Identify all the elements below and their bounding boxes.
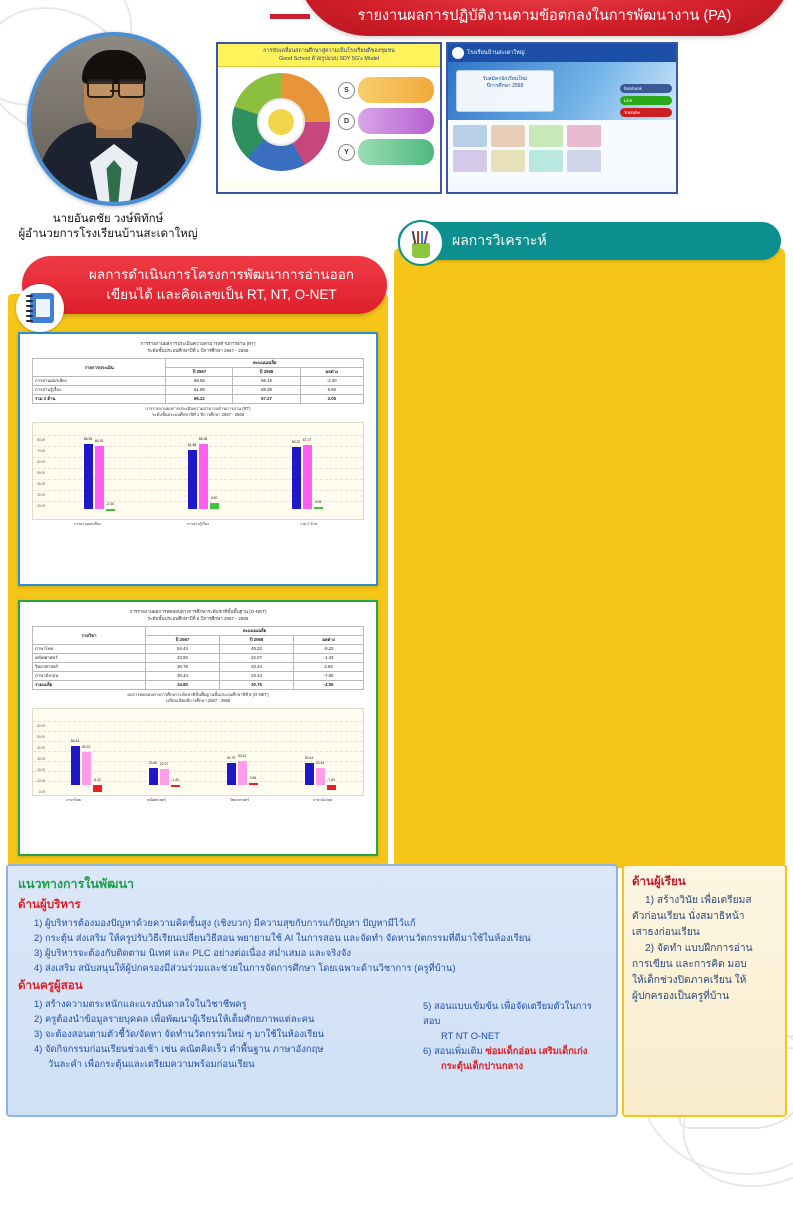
book-glyph bbox=[26, 293, 54, 323]
sdy-model-title: การขับเคลื่อนสถานศึกษาสู่ความเป็นโรงเรีย… bbox=[218, 44, 440, 67]
page-title: รายงานผลการปฏิบัติงานตามข้อตกลงในการพัฒน… bbox=[358, 4, 732, 27]
development-admin-item: 3) ผู้บริหารจะต้องกับติดตาม นิเทศ และ PL… bbox=[18, 945, 606, 960]
onet-x-axis-labels: ภาษาไทยคณิตศาสตร์วิทยาศาสตร์ภาษาอังกฤษ bbox=[32, 796, 364, 803]
development-teacher-title: ด้านครูผู้สอน bbox=[18, 977, 606, 995]
sdy-letter-d: D bbox=[338, 113, 355, 130]
project-result-text: ผลการดำเนินการโครงการพัฒนาการอ่านออก เขี… bbox=[22, 265, 387, 305]
image-card-sdy-model: การขับเคลื่อนสถานศึกษาสู่ความเป็นโรงเรีย… bbox=[216, 42, 442, 194]
rt-cell-diff: -2.40 bbox=[300, 377, 363, 386]
onet-y-tick: 20.00 bbox=[33, 765, 46, 776]
rt-plot-title: การรายงานผลการประเมินความสามารถด้านการอ่… bbox=[24, 404, 372, 418]
bar-ปี-2567: 61.88 bbox=[188, 450, 197, 509]
bar-value-label: 54.44 bbox=[71, 739, 80, 743]
chart-card-onet: การรายงานผลการทดสอบทางการศึกษาระดับชาติข… bbox=[18, 600, 378, 856]
website-thumbnail bbox=[453, 125, 487, 147]
bar-value-label: 22.07 bbox=[160, 762, 169, 766]
website-thumbnail bbox=[529, 125, 563, 147]
project-result-line2: เขียนได้ และคิดเลขเป็น RT, NT, O-NET bbox=[56, 285, 387, 305]
student-development-item: ให้เด็กช่วงปิดภาคเรียน ให้ bbox=[632, 973, 777, 989]
glasses-bridge bbox=[110, 90, 118, 92]
development-panel: แนวทางการในพัฒนา ด้านผู้บริหาร 1) ผู้บริ… bbox=[6, 864, 618, 1117]
profile-position: ผู้อำนวยการโรงเรียนบ้านสะเดาใหญ่ bbox=[0, 227, 216, 242]
sdy-wheel-diagram bbox=[232, 73, 330, 171]
table-row: ภาษาอังกฤษ 30.44 23.44 -7.00 bbox=[33, 672, 364, 681]
bar-group: 30.4423.44-7.00 bbox=[281, 723, 359, 785]
onet-y-axis: 60.00 50.00 40.00 30.00 20.00 10.00 0.00 bbox=[33, 721, 46, 785]
bar-value-label: 33.44 bbox=[238, 754, 247, 758]
development-teacher-item: 1) สร้างความตระหนักและแรงบันดาลใจในวิชาช… bbox=[18, 996, 413, 1011]
sdy-letter-y: Y bbox=[338, 144, 355, 161]
onet-total-diff: -4.05 bbox=[294, 681, 364, 690]
rt-y-tick: 70.00 bbox=[33, 446, 46, 457]
onet-y-tick: 0.00 bbox=[33, 787, 46, 798]
book-rings bbox=[26, 295, 33, 321]
table-row: ภาษาไทย 54.44 45.22 -9.22 bbox=[33, 645, 364, 654]
bar-ปี-2568: 33.44 bbox=[238, 761, 247, 785]
bar-ผลต่าง: 2.65 bbox=[249, 783, 258, 785]
bar-value-label: 30.44 bbox=[305, 756, 314, 760]
social-pill-line[interactable]: Line bbox=[620, 96, 672, 105]
bar-value-label: 66.15 bbox=[95, 439, 104, 443]
bar-ปี-2567: 54.44 bbox=[71, 746, 80, 785]
bar-ผลต่าง: -7.00 bbox=[327, 785, 336, 790]
onet-cell-2568: 45.22 bbox=[220, 645, 294, 654]
onet-row-label: ภาษาไทย bbox=[33, 645, 146, 654]
onet-cell-2567: 23.50 bbox=[146, 654, 220, 663]
onet-y-tick: 40.00 bbox=[33, 743, 46, 754]
development-teacher-item: 3) จะต้องสอนตามตัวชี้วัด/จัดหา จัดทำนวัต… bbox=[18, 1026, 413, 1041]
website-thumbnail bbox=[529, 150, 563, 172]
rt-total-label: รวม 2 ด้าน bbox=[33, 395, 166, 404]
rt-y-tick: 20.00 bbox=[33, 501, 46, 512]
development-admin-item: 2) กระตุ้น ส่งเสริม ให้ครูปรับวิธีเรียนเ… bbox=[18, 930, 606, 945]
enrollment-badge: รับสมัครนักเรียนใหม่ ปีการศึกษา 2568 bbox=[456, 70, 554, 112]
rt-cell-2567: 68.55 bbox=[166, 377, 233, 386]
bar-group: 68.5566.15-2.40 bbox=[47, 437, 151, 509]
rt-col-group: คะแนนเฉลี่ย bbox=[166, 359, 364, 368]
onet-col-2568: ปี 2568 bbox=[220, 636, 294, 645]
sdy-legend-row: D bbox=[338, 108, 434, 134]
onet-y-tick: 50.00 bbox=[33, 732, 46, 743]
onet-cell-2567: 54.44 bbox=[146, 645, 220, 654]
development-teacher-right-column: 5) สอนแบบเข้มข้น เพื่อจัดเตรียมตัวในการส… bbox=[419, 996, 606, 1073]
onet-cell-diff: -7.00 bbox=[294, 672, 364, 681]
pencil-icon bbox=[417, 231, 419, 244]
rt-col-item: รายการประเมิน bbox=[33, 359, 166, 377]
x-axis-label: คณิตศาสตร์ bbox=[115, 796, 198, 803]
chart-card-rt-inner: การรายงานผลการประเมินความสามารถด้านการอ่… bbox=[24, 338, 372, 580]
header-tail bbox=[270, 14, 310, 19]
page-title-banner: รายงานผลการปฏิบัติงานตามข้อตกลงในการพัฒน… bbox=[296, 0, 793, 36]
book-page bbox=[36, 299, 50, 317]
onet-bar-chart: 60.00 50.00 40.00 30.00 20.00 10.00 0.00… bbox=[32, 708, 364, 796]
rt-col-diff: ผลต่าง bbox=[300, 368, 363, 377]
bar-ผลต่าง: -2.40 bbox=[106, 509, 115, 511]
onet-table-title-line2: ระดับชั้นประถมศึกษาปีที่ 6 ปีการศึกษา 25… bbox=[32, 616, 364, 623]
x-axis-label: การอ่านรู้เรื่อง bbox=[143, 520, 254, 527]
table-header-row: รายการประเมิน คะแนนเฉลี่ย bbox=[33, 359, 364, 368]
bar-group: 61.8868.386.50 bbox=[151, 437, 255, 509]
onet-bar-group-container: 54.4445.22-9.2223.5022.07-1.4330.7933.44… bbox=[47, 723, 359, 785]
x-axis-label: วิทยาศาสตร์ bbox=[198, 796, 281, 803]
social-pill-list: facebook Line Youtube bbox=[620, 84, 672, 120]
sdy-wheel-core bbox=[268, 109, 294, 135]
rt-x-axis-labels: การอ่านออกเสียงการอ่านรู้เรื่องรวม 2 ด้า… bbox=[32, 520, 364, 527]
bar-value-label: 68.55 bbox=[84, 437, 93, 441]
rt-row-label: การอ่านออกเสียง bbox=[33, 377, 166, 386]
onet-col-group: คะแนนเฉลี่ย bbox=[146, 627, 364, 636]
rt-data-table: รายการประเมิน คะแนนเฉลี่ย ปี 2567 ปี 256… bbox=[32, 358, 364, 404]
onet-col-2567: ปี 2567 bbox=[146, 636, 220, 645]
bar-ปี-2568: 23.44 bbox=[316, 768, 325, 785]
onet-table-title: การรายงานผลการทดสอบทางการศึกษาระดับชาติข… bbox=[24, 606, 372, 624]
rt-y-tick: 50.00 bbox=[33, 468, 46, 479]
book-icon bbox=[16, 284, 64, 332]
table-header-row: รายวิชา คะแนนเฉลี่ย bbox=[33, 627, 364, 636]
student-development-item: 2) จัดทำ แบบฝึกการอ่าน bbox=[632, 941, 777, 957]
profile-name: นายอันตชัย วงษ์พิทักษ์ bbox=[0, 212, 216, 227]
bar-value-label: 2.65 bbox=[250, 776, 257, 780]
table-total-row: รวมเฉลี่ย 34.80 30.75 -4.05 bbox=[33, 681, 364, 690]
profile-caption: นายอันตชัย วงษ์พิทักษ์ ผู้อำนวยการโรงเรี… bbox=[0, 212, 216, 242]
bar-ปี-2568: 67.27 bbox=[303, 445, 312, 509]
development-title: แนวทางการในพัฒนา bbox=[18, 874, 606, 894]
enrollment-badge-text: รับสมัครนักเรียนใหม่ ปีการศึกษา 2568 bbox=[457, 71, 553, 90]
onet-row-label: ภาษาอังกฤษ bbox=[33, 672, 146, 681]
image-card-school-website: โรงเรียนบ้านสะเดาใหญ่ รับสมัครนักเรียนให… bbox=[446, 42, 678, 194]
table-row: การอ่านรู้เรื่อง 61.88 68.38 6.50 bbox=[33, 386, 364, 395]
sdy-legend: S D Y bbox=[338, 77, 434, 170]
onet-cell-2567: 30.79 bbox=[146, 663, 220, 672]
bar-value-label: 23.50 bbox=[149, 761, 158, 765]
bar-group: 23.5022.07-1.43 bbox=[125, 723, 203, 785]
bar-value-label: 65.22 bbox=[292, 440, 301, 444]
bar-ปี-2567: 68.55 bbox=[84, 444, 93, 509]
development-teacher-left-column: 1) สร้างความตระหนักและแรงบันดาลใจในวิชาช… bbox=[18, 996, 413, 1073]
rt-row-label: การอ่านรู้เรื่อง bbox=[33, 386, 166, 395]
x-axis-label: รวม 2 ด้าน bbox=[253, 520, 364, 527]
pencil-cup-icon bbox=[398, 220, 444, 266]
bar-value-label: 45.22 bbox=[82, 745, 91, 749]
rt-y-axis: 80.00 70.00 60.00 50.00 40.00 30.00 20.0… bbox=[33, 435, 46, 509]
table-row: วิทยาศาสตร์ 30.79 33.44 2.65 bbox=[33, 663, 364, 672]
student-development-item: 1) สร้างวินัย เพื่อเตรียมส bbox=[632, 893, 777, 909]
avatar bbox=[27, 32, 201, 206]
student-development-item: การเขียน และการคิด มอบ bbox=[632, 957, 777, 973]
onet-total-label: รวมเฉลี่ย bbox=[33, 681, 146, 690]
bar-value-label: -2.40 bbox=[106, 502, 114, 506]
student-development-panel: ด้านผู้เรียน 1) สร้างวินัย เพื่อเตรียมส … bbox=[622, 864, 787, 1117]
bar-value-label: 67.27 bbox=[303, 438, 312, 442]
x-axis-label: การอ่านออกเสียง bbox=[32, 520, 143, 527]
development-teacher-columns: 1) สร้างความตระหนักและแรงบันดาลใจในวิชาช… bbox=[18, 996, 606, 1073]
bar-ปี-2568: 45.22 bbox=[82, 752, 91, 785]
social-pill-facebook[interactable]: facebook bbox=[620, 84, 672, 93]
bar-ปี-2568: 68.38 bbox=[199, 444, 208, 509]
bar-value-label: 61.88 bbox=[188, 443, 197, 447]
rt-table-title-line2: ระดับชั้นประถมศึกษาปีที่ 1 ปีการศึกษา 25… bbox=[32, 348, 364, 355]
website-title: โรงเรียนบ้านสะเดาใหญ่ bbox=[467, 49, 525, 57]
development-teacher-item: วันละคำ เพื่อกระตุ้นและเตรียมความพร้อมก่… bbox=[18, 1056, 413, 1071]
bar-value-label: 6.50 bbox=[211, 496, 218, 500]
website-thumbnail bbox=[567, 150, 601, 172]
bar-ปี-2567: 30.44 bbox=[305, 763, 314, 785]
sdy-title-line1: การขับเคลื่อนสถานศึกษาสู่ความเป็นโรงเรีย… bbox=[220, 47, 438, 55]
onet-cell-diff: -9.22 bbox=[294, 645, 364, 654]
rt-col-2567: ปี 2567 bbox=[166, 368, 233, 377]
development-admin-item: 4) ส่งเสริม สนับสนุนให้ผู้ปกครองมีส่วนร่… bbox=[18, 960, 606, 975]
chart-card-rt: การรายงานผลการประเมินความสามารถด้านการอ่… bbox=[18, 332, 378, 586]
bar-value-label: 68.38 bbox=[199, 437, 208, 441]
table-row: การอ่านออกเสียง 68.55 66.15 -2.40 bbox=[33, 377, 364, 386]
onet-total-2567: 34.80 bbox=[146, 681, 220, 690]
rt-cell-2568: 68.38 bbox=[233, 386, 300, 395]
bar-value-label: 2.05 bbox=[315, 500, 322, 504]
development-teacher-item: กระตุ้นเด็กปานกลาง bbox=[419, 1058, 606, 1073]
enrollment-line2: ปีการศึกษา 2568 bbox=[457, 83, 553, 90]
development-item-highlight: ซ่อมเด็กอ่อน เสริมเด็กเก่ง bbox=[485, 1045, 587, 1056]
sdy-legend-row: Y bbox=[338, 139, 434, 165]
rt-y-tick: 60.00 bbox=[33, 457, 46, 468]
sdy-legend-row: S bbox=[338, 77, 434, 103]
rt-y-tick: 40.00 bbox=[33, 479, 46, 490]
bar-ปี-2567: 30.79 bbox=[227, 763, 236, 785]
website-thumbnail bbox=[567, 125, 601, 147]
rt-cell-2568: 66.15 bbox=[233, 377, 300, 386]
sdy-title-line2: Good School ด้วยรูปแบบ SDY 5G's Model bbox=[220, 55, 438, 63]
student-development-item: ผู้ปกครองเป็นครูที่บ้าน bbox=[632, 989, 777, 1005]
social-pill-youtube[interactable]: Youtube bbox=[620, 108, 672, 117]
website-thumbnails bbox=[448, 120, 676, 184]
onet-y-tick: 30.00 bbox=[33, 754, 46, 765]
onet-cell-2568: 23.44 bbox=[220, 672, 294, 681]
bar-value-label: -7.00 bbox=[327, 778, 335, 782]
rt-table-title: การรายงานผลการประเมินความสามารถด้านการอ่… bbox=[24, 338, 372, 356]
school-logo-icon bbox=[452, 47, 464, 59]
rt-y-tick: 80.00 bbox=[33, 435, 46, 446]
bar-group: 30.7933.442.65 bbox=[203, 723, 281, 785]
onet-col-diff: ผลต่าง bbox=[294, 636, 364, 645]
onet-y-tick: 10.00 bbox=[33, 776, 46, 787]
rt-plot-title-line2: ระดับชั้นประถมศึกษาปีที่ 1 ปีการศึกษา 25… bbox=[24, 412, 372, 418]
table-row: คณิตศาสตร์ 23.50 22.07 -1.43 bbox=[33, 654, 364, 663]
development-admin-title: ด้านผู้บริหาร bbox=[18, 896, 606, 914]
rt-col-2568: ปี 2568 bbox=[233, 368, 300, 377]
bar-group: 54.4445.22-9.22 bbox=[47, 723, 125, 785]
onet-cell-diff: 2.65 bbox=[294, 663, 364, 672]
rt-cell-2567: 61.88 bbox=[166, 386, 233, 395]
pencil-icon bbox=[424, 231, 429, 244]
website-header: โรงเรียนบ้านสะเดาใหญ่ bbox=[448, 44, 676, 62]
onet-cell-2568: 33.44 bbox=[220, 663, 294, 672]
onet-row-label: คณิตศาสตร์ bbox=[33, 654, 146, 663]
onet-cell-2567: 30.44 bbox=[146, 672, 220, 681]
development-teacher-item: 6) สอนเพิ่มเติม ซ่อมเด็กอ่อน เสริมเด็กเก… bbox=[419, 1043, 606, 1058]
chart-card-onet-inner: การรายงานผลการทดสอบทางการศึกษาระดับชาติข… bbox=[24, 606, 372, 850]
development-teacher-item: 4) จัดกิจกรรมก่อนเรียนช่วงเช้า เช่น คณิต… bbox=[18, 1041, 413, 1056]
onet-cell-diff: -1.43 bbox=[294, 654, 364, 663]
project-result-banner: ผลการดำเนินการโครงการพัฒนาการอ่านออก เขี… bbox=[22, 256, 387, 314]
development-item-prefix: 6) สอนเพิ่มเติม bbox=[423, 1045, 485, 1056]
rt-bar-chart: 80.00 70.00 60.00 50.00 40.00 30.00 20.0… bbox=[32, 422, 364, 520]
website-thumbnail bbox=[491, 150, 525, 172]
cup-body bbox=[412, 243, 430, 258]
student-development-title: ด้านผู้เรียน bbox=[632, 873, 777, 891]
enrollment-line1: รับสมัครนักเรียนใหม่ bbox=[457, 76, 553, 83]
bar-value-label: 30.79 bbox=[227, 756, 236, 760]
bar-value-label: -9.22 bbox=[93, 778, 101, 782]
student-development-item: เสาธงก่อนเรียน bbox=[632, 925, 777, 941]
website-thumbnail bbox=[453, 150, 487, 172]
sdy-bar-delegate bbox=[358, 108, 434, 134]
rt-total-diff: 2.05 bbox=[300, 395, 363, 404]
rt-total-2568: 67.27 bbox=[233, 395, 300, 404]
student-development-item: ตัวก่อนเรียน นั่งสมาธิหน้า bbox=[632, 909, 777, 925]
onet-y-tick: 60.00 bbox=[33, 721, 46, 732]
pencil-icon bbox=[421, 231, 423, 244]
bar-ผลต่าง: -1.43 bbox=[171, 785, 180, 787]
x-axis-label: ภาษาอังกฤษ bbox=[281, 796, 364, 803]
rt-cell-diff: 6.50 bbox=[300, 386, 363, 395]
bar-ผลต่าง: -9.22 bbox=[93, 785, 102, 792]
sdy-bar-youth bbox=[358, 139, 434, 165]
bar-ปี-2567: 65.22 bbox=[292, 447, 301, 509]
website-hero: รับสมัครนักเรียนใหม่ ปีการศึกษา 2568 fac… bbox=[448, 62, 676, 120]
pencil-icon bbox=[412, 231, 417, 244]
onet-total-2568: 30.75 bbox=[220, 681, 294, 690]
glasses-icon bbox=[87, 79, 114, 98]
onet-plot-title-line2: เปรียบเทียบปีการศึกษา 2567 - 2568 bbox=[24, 698, 372, 704]
bar-ผลต่าง: 6.50 bbox=[210, 503, 219, 509]
project-result-line1: ผลการดำเนินการโครงการพัฒนาการอ่านออก bbox=[56, 265, 387, 285]
development-teacher-item: 5) สอนแบบเข้มข้น เพื่อจัดเตรียมตัวในการส… bbox=[419, 998, 606, 1028]
development-teacher-item: 2) ครูต้องนำข้อมูลรายบุคคล เพื่อพัฒนาผู้… bbox=[18, 1011, 413, 1026]
development-admin-item: 1) ผู้บริหารต้องมองปัญหาด้วยความคิดชั้นส… bbox=[18, 915, 606, 930]
onet-col-subject: รายวิชา bbox=[33, 627, 146, 645]
onet-cell-2568: 22.07 bbox=[220, 654, 294, 663]
bar-ผลต่าง: 2.05 bbox=[314, 507, 323, 509]
onet-row-label: วิทยาศาสตร์ bbox=[33, 663, 146, 672]
development-teacher-item: RT NT O-NET bbox=[419, 1028, 606, 1043]
bar-ปี-2568: 22.07 bbox=[160, 769, 169, 785]
analysis-frame bbox=[394, 248, 785, 868]
glasses-icon bbox=[118, 79, 145, 98]
sdy-bar-sufficiency bbox=[358, 77, 434, 103]
bar-ปี-2568: 66.15 bbox=[95, 446, 104, 509]
rt-total-2567: 65.22 bbox=[166, 395, 233, 404]
sdy-letter-s: S bbox=[338, 82, 355, 99]
rt-y-tick: 30.00 bbox=[33, 490, 46, 501]
website-thumbnail bbox=[491, 125, 525, 147]
bar-value-label: -1.43 bbox=[171, 778, 179, 782]
bar-group: 65.2267.272.05 bbox=[255, 437, 359, 509]
rt-bar-group-container: 68.5566.15-2.4061.8868.386.5065.2267.272… bbox=[47, 437, 359, 509]
bar-value-label: 23.44 bbox=[316, 761, 325, 765]
onet-data-table: รายวิชา คะแนนเฉลี่ย ปี 2567 ปี 2568 ผลต่… bbox=[32, 626, 364, 690]
analysis-heading-bar: ผลการวิเคราะห์ bbox=[398, 222, 781, 260]
table-total-row: รวม 2 ด้าน 65.22 67.27 2.05 bbox=[33, 395, 364, 404]
bar-ปี-2567: 23.50 bbox=[149, 768, 158, 785]
onet-plot-title: ผลการทดสอบทางการศึกษาระดับชาติขั้นพื้นฐา… bbox=[24, 690, 372, 704]
sdy-model-body: S D Y bbox=[218, 67, 440, 179]
